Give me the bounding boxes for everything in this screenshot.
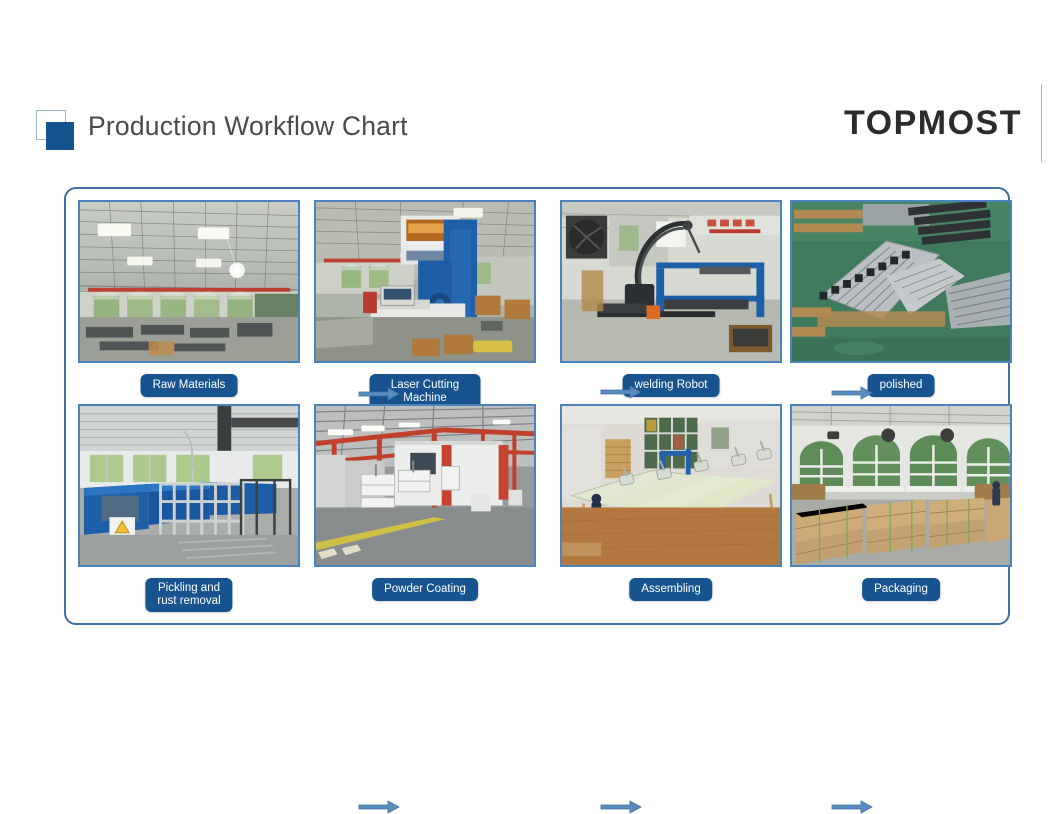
photo-polished-metal-parts <box>790 200 1012 363</box>
photo-factory-workshop-interior <box>78 200 300 363</box>
workflow-step-assembling[interactable]: Assembling <box>560 404 782 606</box>
workflow-row-1: Raw Materials <box>66 200 1012 402</box>
workflow-step-welding-robot[interactable]: welding Robot <box>560 200 782 402</box>
photo-packaged-cartons <box>790 404 1012 567</box>
workflow-row-2: Pickling and rust removal <box>66 404 1012 606</box>
photo-pickling-tanks <box>78 404 300 567</box>
stacked-squares-icon <box>36 110 74 148</box>
photo-welding-robot <box>560 200 782 363</box>
workflow-step-polished[interactable]: polished <box>790 200 1012 402</box>
brand-logo-text: TOPMOST <box>844 106 1022 140</box>
brand-logo: TOPMOST <box>844 100 1022 146</box>
step-label: Raw Materials <box>141 374 238 397</box>
brand-divider <box>1041 84 1043 162</box>
workflow-container: Raw Materials <box>64 187 1010 625</box>
arrow-right-icon <box>600 800 642 814</box>
square-solid-icon <box>46 122 74 150</box>
workflow-step-powder-coating[interactable]: Powder Coating <box>314 404 536 606</box>
arrow-right-icon <box>358 387 400 401</box>
arrow-right-icon <box>831 386 873 400</box>
step-label: Packaging <box>862 578 940 601</box>
page-title: Production Workflow Chart <box>88 111 408 142</box>
photo-laser-cutting-machine <box>314 200 536 363</box>
photo-powder-coating-line <box>314 404 536 567</box>
arrow-right-icon <box>600 385 642 399</box>
step-label: Powder Coating <box>372 578 478 601</box>
photo-assembly-line <box>560 404 782 567</box>
workflow-step-raw-materials[interactable]: Raw Materials <box>78 200 300 402</box>
workflow-step-packaging[interactable]: Packaging <box>790 404 1012 606</box>
step-label: Assembling <box>629 578 712 601</box>
arrow-right-icon <box>358 800 400 814</box>
step-label: Pickling and rust removal <box>145 578 232 612</box>
page-header: Production Workflow Chart TOPMOST <box>0 0 1060 175</box>
workflow-step-laser-cutting-machine[interactable]: Laser Cutting Machine <box>314 200 536 402</box>
arrow-right-icon <box>831 800 873 814</box>
workflow-step-pickling-and-rust-removal[interactable]: Pickling and rust removal <box>78 404 300 606</box>
step-label: polished <box>868 374 935 397</box>
